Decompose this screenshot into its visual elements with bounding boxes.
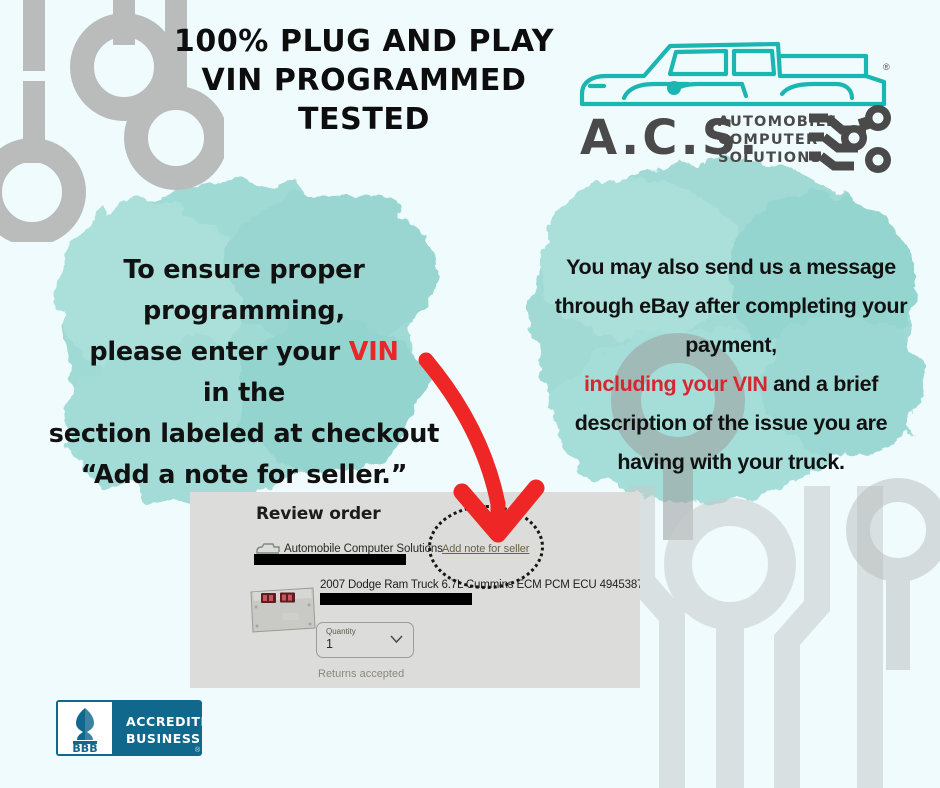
logo-word-computer: COMPUTER [718, 132, 818, 148]
add-note-for-seller-link[interactable]: Add note for seller [442, 543, 529, 555]
right-line-4-rest: and a brief [768, 372, 879, 396]
right-vin-highlight: including your VIN [584, 372, 768, 396]
right-line-2: through eBay after completing your [540, 287, 922, 326]
left-vin-highlight: VIN [349, 337, 399, 367]
bbb-acronym: BBB [72, 742, 97, 755]
left-line-6: “Add a note for seller.” [28, 455, 460, 496]
left-line-3-pre: please enter your [89, 337, 348, 367]
left-line-3: please enter your VIN [28, 332, 460, 373]
quantity-stepper[interactable]: Quantity 1 [316, 622, 414, 658]
right-line-3: payment, [540, 326, 922, 365]
headline-line-3: TESTED [118, 100, 610, 139]
redacted-bar-seller [254, 554, 406, 565]
circuit-decoration-bottom-right [612, 486, 940, 788]
left-instruction-text: To ensure proper programming, please ent… [28, 250, 460, 496]
right-line-4: including your VIN and a brief [540, 365, 922, 404]
bbb-line-2: BUSINESS [126, 731, 201, 746]
circuit-decoration-right [846, 470, 940, 670]
poster-canvas: 100% PLUG AND PLAY VIN PROGRAMMED TESTED… [0, 0, 940, 788]
left-line-1: To ensure proper [28, 250, 460, 291]
right-instruction-text: You may also send us a message through e… [540, 248, 922, 482]
item-title[interactable]: 2007 Dodge Ram Truck 6.7L Cummins ECM PC… [320, 579, 640, 591]
bbb-accredited-business-badge: BBB ACCREDITED BUSINESS ® [56, 700, 202, 756]
bbb-registered-mark: ® [195, 746, 201, 754]
headline-line-2: VIN PROGRAMMED [118, 61, 610, 100]
chevron-down-icon [390, 635, 403, 644]
headline: 100% PLUG AND PLAY VIN PROGRAMMED TESTED [118, 22, 610, 139]
right-line-1: You may also send us a message [540, 248, 922, 287]
quantity-value: 1 [326, 637, 333, 651]
review-order-panel: Review order Automobile Computer Solutio… [190, 492, 640, 688]
right-line-6: having with your truck. [540, 443, 922, 482]
left-line-5: section labeled at checkout [28, 414, 460, 455]
right-line-5: description of the issue you are [540, 404, 922, 443]
review-order-title: Review order [256, 504, 380, 524]
bbb-line-1: ACCREDITED [126, 714, 202, 729]
logo-word-solutions: SOLUTIONS [718, 150, 822, 166]
left-line-2: programming, [28, 291, 460, 332]
redacted-bar-price [320, 593, 472, 605]
quantity-label: Quantity [326, 627, 356, 636]
acs-logo: ® A.C.S. AUTOMOBILE COMPUTER SOLUTIONS [566, 26, 906, 176]
ecm-product-thumbnail[interactable] [245, 582, 321, 636]
left-line-4: in the [28, 373, 460, 414]
logo-registered-mark: ® [883, 62, 890, 72]
returns-accepted-text: Returns accepted [318, 668, 404, 680]
headline-line-1: 100% PLUG AND PLAY [118, 22, 610, 61]
